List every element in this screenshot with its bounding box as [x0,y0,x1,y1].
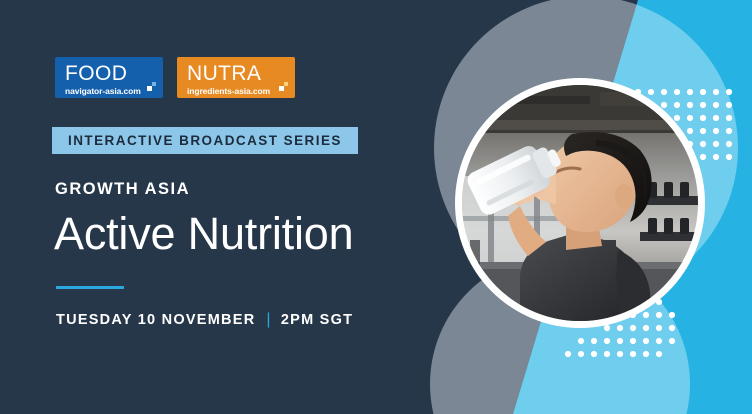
event-eyebrow: GROWTH ASIA [55,180,190,198]
schedule-separator: | [266,312,271,328]
logo-food-title: FOOD [65,63,153,84]
event-headline: Active Nutrition [54,207,353,261]
logo-nutra-domain: ingredients-asia.com [187,86,285,97]
publication-logos: FOOD navigator-asia.com NUTRA ingredient… [55,57,295,98]
logo-food-navigator-asia[interactable]: FOOD navigator-asia.com [55,57,163,98]
logo-squares-icon [147,82,156,91]
accent-rule [56,286,124,289]
webinar-promo-banner: FOOD navigator-asia.com NUTRA ingredient… [0,0,752,414]
event-date: TUESDAY 10 NOVEMBER [56,312,255,328]
event-schedule: TUESDAY 10 NOVEMBER | 2PM SGT [56,312,353,328]
series-ribbon: INTERACTIVE BROADCAST SERIES [52,127,358,154]
hero-photo-circle [455,78,705,328]
logo-food-domain: navigator-asia.com [65,86,153,97]
logo-nutra-title: NUTRA [187,63,285,84]
event-time: 2PM SGT [281,312,353,328]
logo-squares-icon [279,82,288,91]
banner-content: FOOD navigator-asia.com NUTRA ingredient… [0,0,440,414]
logo-nutra-ingredients-asia[interactable]: NUTRA ingredients-asia.com [177,57,295,98]
